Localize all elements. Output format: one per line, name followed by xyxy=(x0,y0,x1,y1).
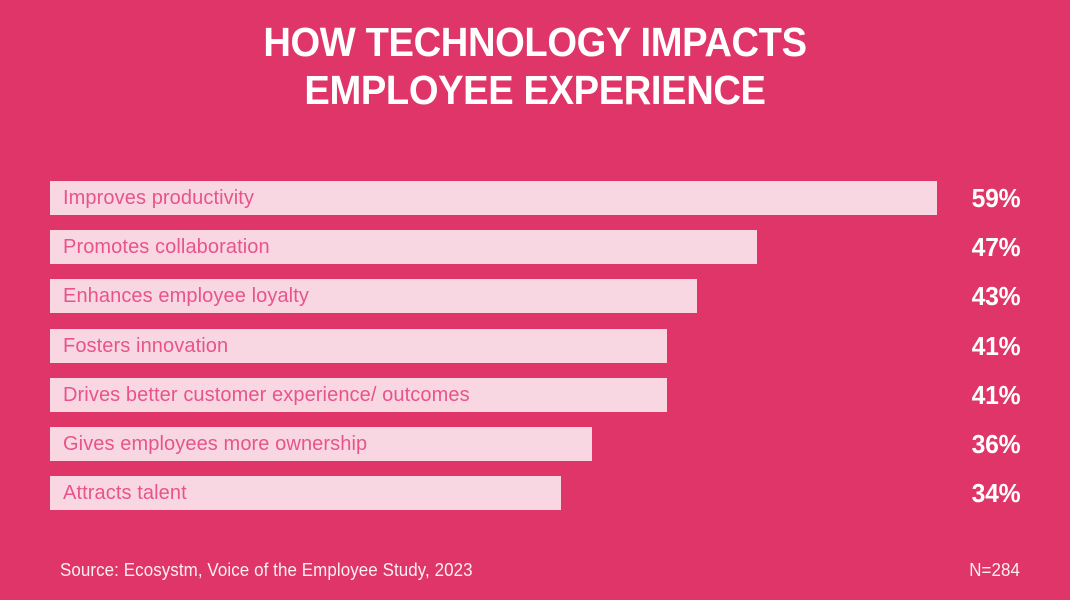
bar-value-label: 41% xyxy=(971,329,1020,363)
bar-category-label: Enhances employee loyalty xyxy=(63,279,309,313)
page-title-line-2: EMPLOYEE EXPERIENCE xyxy=(37,66,1032,114)
page-title-line-1: HOW TECHNOLOGY IMPACTS xyxy=(37,18,1032,66)
horizontal-bar-chart: Improves productivity59%Promotes collabo… xyxy=(0,175,1070,515)
bar-row: Attracts talent34% xyxy=(0,476,1070,510)
footer: Source: Ecosystm, Voice of the Employee … xyxy=(60,556,1020,584)
bar-row: Improves productivity59% xyxy=(0,181,1070,215)
bar-track: Attracts talent xyxy=(50,476,561,510)
bar-category-label: Attracts talent xyxy=(63,476,187,510)
bar-category-label: Drives better customer experience/ outco… xyxy=(63,378,470,412)
bar-track: Improves productivity xyxy=(50,181,937,215)
bar-track: Gives employees more ownership xyxy=(50,427,592,461)
source-note: Source: Ecosystm, Voice of the Employee … xyxy=(60,556,473,584)
bar-row: Fosters innovation41% xyxy=(0,329,1070,363)
sample-size-note: N=284 xyxy=(969,556,1020,584)
page-title: HOW TECHNOLOGY IMPACTS EMPLOYEE EXPERIEN… xyxy=(0,18,1070,114)
bar-value-label: 34% xyxy=(971,476,1020,510)
bar-row: Promotes collaboration47% xyxy=(0,230,1070,264)
bar-category-label: Gives employees more ownership xyxy=(63,427,367,461)
bar-track: Promotes collaboration xyxy=(50,230,757,264)
infographic-slide: HOW TECHNOLOGY IMPACTS EMPLOYEE EXPERIEN… xyxy=(0,0,1070,600)
bar-value-label: 59% xyxy=(971,181,1020,215)
bar-track: Fosters innovation xyxy=(50,329,667,363)
bar-value-label: 43% xyxy=(971,279,1020,313)
bar-track: Enhances employee loyalty xyxy=(50,279,697,313)
bar-row: Enhances employee loyalty43% xyxy=(0,279,1070,313)
bar-category-label: Improves productivity xyxy=(63,181,254,215)
bar-track: Drives better customer experience/ outco… xyxy=(50,378,667,412)
bar-row: Gives employees more ownership36% xyxy=(0,427,1070,461)
bar-category-label: Fosters innovation xyxy=(63,329,228,363)
bar-value-label: 36% xyxy=(971,427,1020,461)
bar-value-label: 47% xyxy=(971,230,1020,264)
bar-category-label: Promotes collaboration xyxy=(63,230,270,264)
bar-row: Drives better customer experience/ outco… xyxy=(0,378,1070,412)
bar-value-label: 41% xyxy=(971,378,1020,412)
